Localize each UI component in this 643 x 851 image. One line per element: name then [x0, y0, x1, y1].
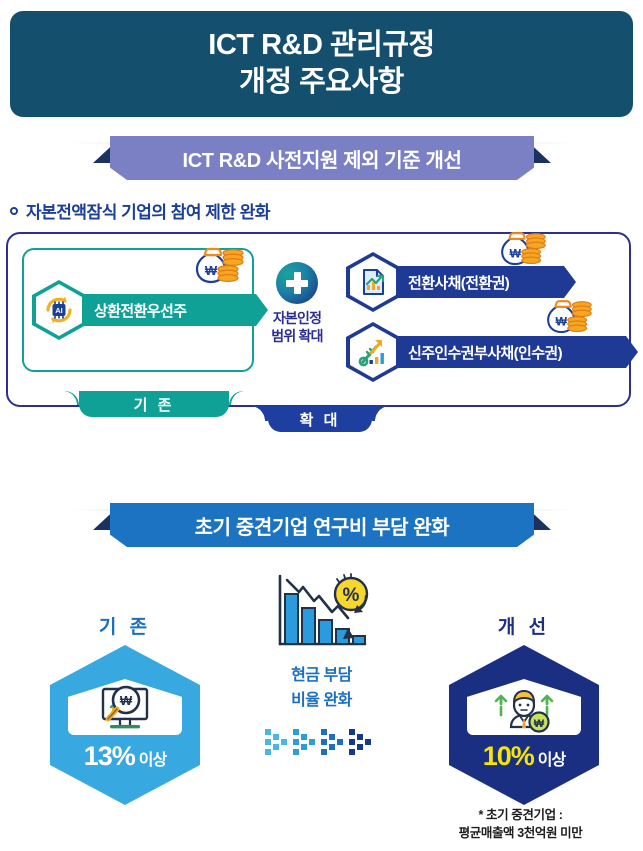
footnote: * 초기 중견기업 : 평균매출액 3천억원 미만 — [398, 806, 643, 842]
money-bag-coins-icon: ₩ — [490, 228, 552, 270]
money-bag-coins-icon: ₩ — [536, 296, 598, 338]
section-2-ribbon-label: 초기 중견기업 연구비 부담 완화 — [195, 511, 450, 540]
monitor-magnifier-won-icon: ₩ — [90, 683, 160, 739]
added-item-0-label: 전환사채(전환권) — [408, 272, 509, 293]
svg-text:₩: ₩ — [556, 314, 568, 328]
cash-burden-label-line-2: 비율 완화 — [255, 690, 388, 711]
existing-tab: 기 존 — [79, 391, 229, 417]
pixel-chevrons-right-icon — [255, 727, 388, 761]
cash-burden-block: % 현금 부담 비율 완화 — [255, 572, 388, 761]
money-bag-coins-icon: ₩ — [184, 244, 246, 286]
svg-text:₩: ₩ — [534, 718, 545, 730]
svg-text:₩: ₩ — [510, 246, 522, 260]
after-caption: 개 선 — [444, 612, 604, 639]
capital-recognition-diagram: AI 상환전환우선주 ₩ — [6, 232, 631, 407]
before-caption: 기 존 — [45, 612, 205, 639]
svg-text:%: % — [342, 585, 359, 606]
section-1-ribbon-label: ICT R&D 사전지원 제외 기준 개선 — [183, 144, 462, 173]
page-title: ICT R&D 관리규정 개정 주요사항 — [10, 11, 633, 117]
after-value: 10% — [483, 741, 534, 771]
page-title-line-2: 개정 주요사항 — [239, 64, 404, 101]
added-item-1: 신주인수권부사채(인수권) ₩ — [346, 322, 638, 382]
footnote-line-2: 평균매출액 3천억원 미만 — [398, 824, 643, 842]
before-badge: ₩ 13%이상 — [50, 645, 200, 805]
existing-item-label: 상환전환우선주 — [94, 300, 186, 321]
before-value-suffix: 이상 — [139, 752, 166, 769]
section-1-ribbon-body: ICT R&D 사전지원 제외 기준 개선 — [110, 136, 534, 180]
section-2-ribbon-body: 초기 중견기업 연구비 부담 완화 — [110, 503, 534, 547]
svg-text:AI: AI — [55, 306, 63, 315]
added-item-1-label-pill: 신주인수권부사채(인수권) — [386, 336, 638, 368]
existing-item-label-pill: 상환전환우선주 — [72, 294, 268, 326]
section-2-ribbon: 초기 중견기업 연구비 부담 완화 — [110, 503, 534, 547]
svg-text:₩: ₩ — [120, 693, 133, 708]
declining-bar-chart-percent-icon: % — [269, 572, 375, 656]
after-badge: ₩ 10%이상 — [449, 645, 599, 805]
infographic-page: ICT R&D 관리규정 개정 주요사항 ICT R&D 사전지원 제외 기준 … — [0, 0, 643, 851]
cash-burden-label-line-1: 현금 부담 — [255, 665, 388, 686]
existing-tab-label: 기 존 — [134, 394, 175, 415]
key-bar-chart-arrow-icon — [346, 322, 400, 382]
section-1-heading: 자본전액잠식 기업의 참여 제한 완화 — [10, 198, 270, 223]
added-item-1-label: 신주인수권부사채(인수권) — [408, 342, 562, 363]
section-1-heading-label: 자본전액잠식 기업의 참여 제한 완화 — [26, 198, 270, 223]
svg-text:₩: ₩ — [205, 263, 218, 278]
plus-badge: 자본인정 범위 확대 — [260, 262, 334, 345]
plus-label-line-1: 자본인정 — [260, 309, 334, 327]
section-1-ribbon: ICT R&D 사전지원 제외 기준 개선 — [110, 136, 534, 180]
after-value-wrapper: 10%이상 — [449, 741, 599, 772]
expand-tab-label: 확 대 — [300, 409, 341, 430]
footnote-line-1: * 초기 중견기업 : — [398, 806, 643, 824]
plus-circle-icon — [276, 262, 318, 304]
page-title-line-1: ICT R&D 관리규정 — [208, 27, 434, 64]
document-growth-chart-icon — [346, 252, 400, 312]
before-value-wrapper: 13%이상 — [50, 741, 200, 772]
existing-panel: AI 상환전환우선주 ₩ — [22, 248, 254, 372]
plus-label-line-2: 범위 확대 — [260, 327, 334, 345]
before-value: 13% — [84, 741, 135, 771]
bullet-circle-icon — [10, 207, 18, 215]
ai-chip-recycle-icon: AI — [32, 280, 86, 340]
expand-tab: 확 대 — [268, 406, 372, 432]
after-value-suffix: 이상 — [538, 752, 565, 769]
businessman-up-arrows-won-icon: ₩ — [485, 683, 563, 739]
